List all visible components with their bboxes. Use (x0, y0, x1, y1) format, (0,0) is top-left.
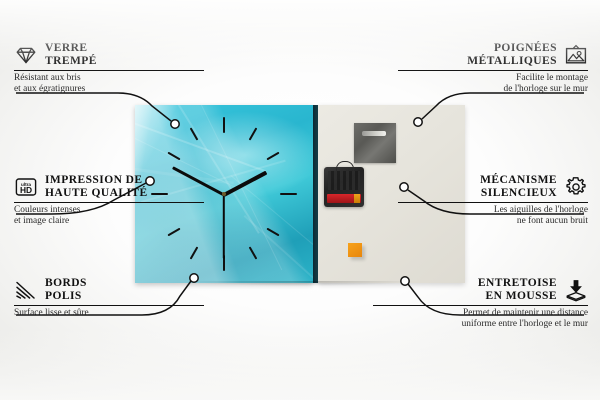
feature-title: IMPRESSION DE HAUTE QUALITÉ (45, 174, 148, 199)
polished-edge-icon (14, 278, 38, 302)
feature-header: BORDS POLIS (14, 277, 204, 302)
feature-header: ENTRETOISE EN MOUSSE (373, 277, 588, 302)
infographic-canvas: VERRE TREMPÉ Résistant aux bris et aux é… (0, 0, 600, 400)
feature-callout-bords-polis[interactable]: BORDS POLIS Surface lisse et sûre (14, 277, 204, 319)
feature-title: POIGNÉES MÉTALLIQUES (467, 42, 557, 67)
feature-callout-verre-trempe[interactable]: VERRE TREMPÉ Résistant aux bris et aux é… (14, 42, 204, 95)
hour-tick-3 (280, 193, 297, 195)
feature-divider (398, 70, 588, 71)
battery (327, 194, 361, 203)
hour-tick-4 (266, 228, 279, 237)
hour-tick-7 (190, 246, 199, 259)
gear-icon (564, 175, 588, 199)
feature-header: ultra HD IMPRESSION DE HAUTE QUALITÉ (14, 174, 204, 199)
feature-callout-impression-haute-qualite[interactable]: ultra HD IMPRESSION DE HAUTE QUALITÉ Cou… (14, 174, 204, 227)
hanger-slot (362, 131, 386, 136)
battery-terminal (354, 194, 360, 203)
feature-callout-poignees-metalliques[interactable]: POIGNÉES MÉTALLIQUES Facilite le montage… (398, 42, 588, 95)
svg-text:HD: HD (20, 185, 32, 195)
foam-spacer-icon (564, 278, 588, 302)
hour-tick-8 (167, 228, 180, 237)
hour-tick-5 (249, 246, 258, 259)
mechanism-label (328, 171, 360, 190)
feature-title: ENTRETOISE EN MOUSSE (478, 277, 557, 302)
foam-spacer (348, 243, 362, 257)
clock-center-pivot (222, 192, 226, 196)
hour-tick-12 (223, 117, 225, 133)
feature-divider (14, 202, 204, 203)
feature-header: POIGNÉES MÉTALLIQUES (398, 42, 588, 67)
feature-header: MÉCANISME SILENCIEUX (398, 174, 588, 199)
hour-tick-2 (266, 152, 279, 161)
diamond-icon (14, 43, 38, 67)
feature-callout-mecanisme-silencieux[interactable]: MÉCANISME SILENCIEUX Les aiguilles de l'… (398, 174, 588, 227)
feather-streak (135, 119, 266, 172)
feature-divider (14, 305, 204, 306)
feature-divider (373, 305, 588, 306)
feature-title: MÉCANISME SILENCIEUX (480, 174, 557, 199)
clock-mechanism (324, 167, 364, 207)
feather-streak (244, 215, 313, 283)
feature-title: BORDS POLIS (45, 277, 87, 302)
feature-divider (398, 202, 588, 203)
metal-hanger-plate (354, 123, 396, 163)
picture-hanger-icon (564, 43, 588, 67)
feature-divider (14, 70, 204, 71)
hour-tick-1 (249, 127, 258, 140)
feature-header: VERRE TREMPÉ (14, 42, 204, 67)
ultra-hd-badge-icon: ultra HD (14, 175, 38, 199)
feature-callout-entretoise-en-mousse[interactable]: ENTRETOISE EN MOUSSE Permet de maintenir… (373, 277, 588, 330)
clock-second-hand (223, 195, 225, 259)
mechanism-hang-loop (336, 161, 354, 171)
feature-title: VERRE TREMPÉ (45, 42, 97, 67)
feather-streak (230, 175, 313, 259)
